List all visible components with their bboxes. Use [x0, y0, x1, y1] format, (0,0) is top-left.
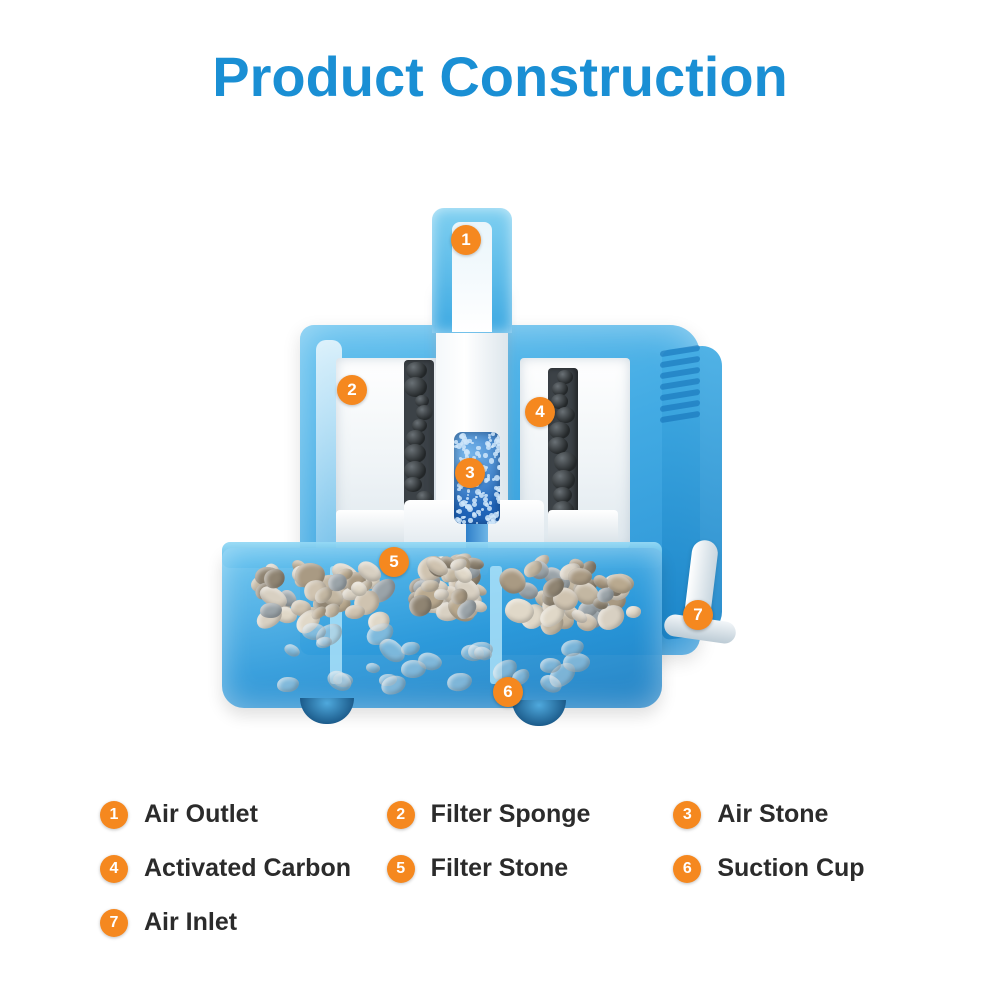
legend-label-5: Filter Stone [431, 854, 569, 883]
product-illustration: 1234567 [0, 170, 1000, 760]
air-stone-speck [494, 456, 496, 458]
air-stone-speck [489, 513, 494, 518]
callout-badge-3: 3 [455, 458, 485, 488]
air-stone-speck [498, 457, 500, 463]
vent-slat [660, 367, 700, 379]
suction-cup-left [300, 698, 354, 724]
air-stone-speck [496, 521, 500, 524]
air-stone-speck [476, 522, 478, 524]
legend-row: 4Activated Carbon5Filter Stone6Suction C… [100, 854, 960, 883]
air-stone-speck [484, 494, 487, 497]
legend-label-3: Air Stone [717, 800, 828, 829]
legend-badge-1: 1 [100, 801, 128, 829]
legend-label-4: Activated Carbon [144, 854, 351, 883]
vent-slat [660, 389, 700, 401]
callout-badge-6: 6 [493, 677, 523, 707]
legend-label-6: Suction Cup [717, 854, 864, 883]
air-stone-speck [472, 502, 477, 507]
air-stone-speck [486, 445, 491, 450]
vent-slat [660, 378, 700, 390]
air-stone-speck [468, 518, 472, 522]
air-stone-speck [459, 501, 465, 507]
air-stone-speck [489, 439, 492, 442]
vent-slat [660, 356, 700, 368]
air-stone-speck [462, 520, 466, 524]
legend-label-7: Air Inlet [144, 908, 237, 937]
air-stone-speck [497, 499, 500, 504]
legend-badge-7: 7 [100, 909, 128, 937]
air-stone-speck [483, 501, 488, 506]
air-stone-speck [455, 517, 460, 522]
legend-item-6: 6Suction Cup [673, 854, 960, 883]
legend-badge-6: 6 [673, 855, 701, 883]
air-stone-speck [478, 513, 481, 516]
legend-badge-2: 2 [387, 801, 415, 829]
callout-badge-7: 7 [683, 600, 713, 630]
legend-row: 1Air Outlet2Filter Sponge3Air Stone [100, 800, 960, 829]
legend-item-2: 2Filter Sponge [387, 800, 674, 829]
air-stone-speck [466, 497, 470, 501]
carbon-granule [404, 377, 427, 397]
air-stone-speck [496, 512, 498, 514]
housing-vents [660, 348, 706, 428]
air-stone-speck [478, 454, 481, 457]
air-stone-speck [467, 494, 469, 496]
air-stone-speck [491, 432, 495, 436]
air-stone-speck [489, 520, 495, 524]
suction-cup-center [512, 700, 566, 726]
air-stone-speck [495, 437, 500, 442]
air-stone-speck [462, 448, 465, 451]
callout-badge-2: 2 [337, 375, 367, 405]
legend-badge-4: 4 [100, 855, 128, 883]
legend-badge-5: 5 [387, 855, 415, 883]
air-stone-speck [483, 453, 488, 458]
legend-item-3: 3Air Stone [673, 800, 960, 829]
carbon-granule [554, 452, 577, 472]
air-stone-speck [493, 452, 497, 456]
air-stone-speck [467, 489, 471, 493]
air-stone-speck [489, 458, 494, 463]
air-stone-speck [488, 434, 491, 437]
air-stone-speck [475, 436, 477, 438]
air-stone-speck [489, 501, 493, 505]
air-stone-speck [464, 449, 469, 454]
callout-badge-5: 5 [379, 547, 409, 577]
air-stone-speck [457, 509, 463, 515]
air-stone-speck [481, 508, 484, 511]
callout-badge-1: 1 [451, 225, 481, 255]
air-stone-speck [471, 442, 474, 445]
air-stone-speck [487, 506, 492, 511]
vent-slat [660, 411, 700, 423]
air-stone-speck [458, 522, 461, 524]
air-stone-speck [456, 443, 462, 449]
air-stone-speck [463, 516, 465, 518]
air-stone-speck [496, 486, 500, 492]
air-stone-speck [497, 465, 500, 470]
callout-badge-4: 4 [525, 397, 555, 427]
legend: 1Air Outlet2Filter Sponge3Air Stone4Acti… [100, 800, 960, 962]
legend-item-7: 7Air Inlet [100, 908, 410, 937]
legend-item-1: 1Air Outlet [100, 800, 387, 829]
legend-item-4: 4Activated Carbon [100, 854, 387, 883]
vent-slat [660, 400, 700, 412]
legend-badge-3: 3 [673, 801, 701, 829]
activated-carbon-left [404, 360, 434, 510]
legend-label-2: Filter Sponge [431, 800, 591, 829]
air-stone-speck [484, 478, 488, 482]
legend-row: 7Air Inlet [100, 908, 960, 937]
air-stone-speck [459, 457, 462, 460]
page-title: Product Construction [0, 44, 1000, 109]
air-stone-speck [465, 454, 468, 457]
air-stone-speck [476, 446, 481, 451]
legend-item-5: 5Filter Stone [387, 854, 674, 883]
air-stone-speck [494, 475, 500, 481]
legend-label-1: Air Outlet [144, 800, 258, 829]
carbon-granule [404, 477, 422, 492]
activated-carbon-right [548, 368, 578, 528]
